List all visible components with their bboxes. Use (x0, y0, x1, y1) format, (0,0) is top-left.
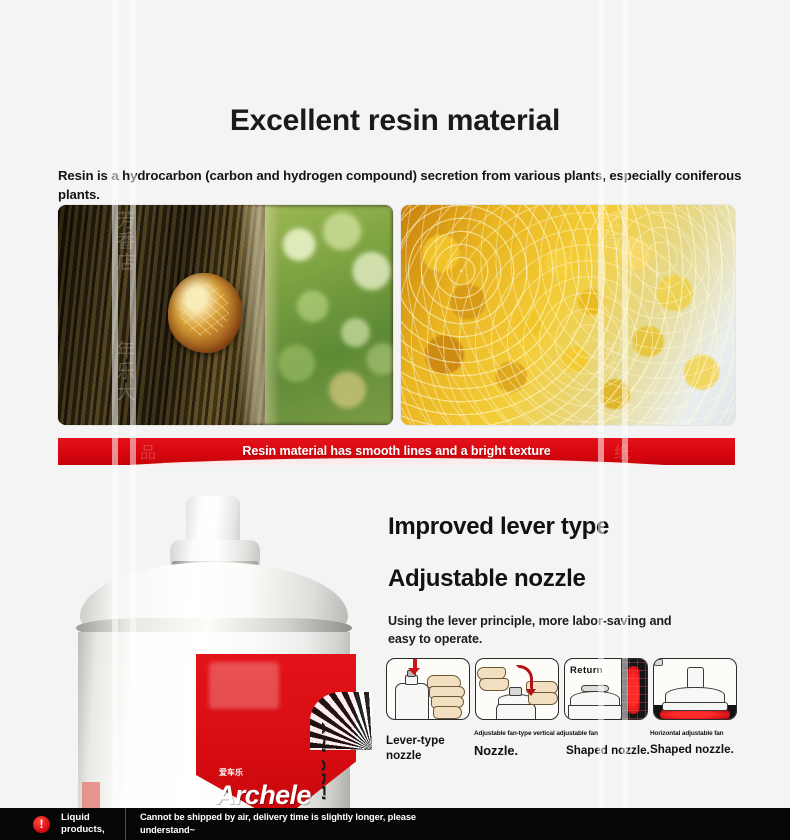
caption-lever-type-nozzle: Lever-type nozzle (386, 733, 472, 763)
nozzle-heading-2: Adjustable nozzle (388, 565, 586, 593)
resin-pellets-photo (401, 205, 736, 425)
caption-shaped-nozzle-2: Shaped nozzle. (650, 743, 734, 756)
curved-arrow-icon (516, 665, 533, 691)
thumbnail-horizontal-spray[interactable] (653, 658, 737, 720)
thumbnail-rotate-nozzle[interactable] (475, 658, 559, 720)
resin-on-tree-bark-photo (58, 205, 393, 425)
page-title: Excellent resin material (0, 0, 790, 136)
resin-feature-banner: 品 纸 Resin material has smooth lines and … (58, 438, 735, 465)
bark-highlight (239, 205, 279, 425)
alert-glyph: ! (33, 816, 50, 833)
can-outline (496, 703, 536, 720)
nozzle-subtext: Using the lever principle, more labor-sa… (388, 612, 700, 649)
can-neck (687, 667, 704, 689)
spray-grid-overlay (621, 659, 647, 719)
caption-adjustable-fan-small: Adjustable fan-type vertical adjustable … (474, 730, 644, 737)
can-brand-cn: 爱车乐 (219, 767, 243, 778)
can-outline (395, 683, 429, 720)
nozzle-notch-icon (654, 659, 663, 666)
finger-icon (433, 706, 462, 719)
can-brand-name: Archele (216, 780, 311, 811)
down-arrow-head-icon (408, 668, 420, 675)
caption-nozzle: Nozzle. (474, 743, 518, 758)
resin-photo-row (58, 205, 735, 425)
bokeh-background (259, 205, 393, 425)
nozzle-heading-1: Improved lever type (388, 513, 609, 541)
nozzle-section: COLORFUL 爱车乐 Archele Features: Improved … (0, 478, 790, 840)
banner-text: Resin material has smooth lines and a br… (58, 438, 735, 465)
shipping-notice-bar: ! Liquid products, Cannot be shipped by … (0, 808, 790, 840)
can-base (662, 702, 728, 711)
caption-shaped-nozzle-1: Shaped nozzle. (566, 744, 650, 757)
thumbnail-vertical-spray[interactable]: Return (564, 658, 648, 720)
return-label: Return (570, 665, 603, 676)
thumbnail-lever-press[interactable] (386, 658, 470, 720)
finger-icon (479, 678, 509, 691)
shipping-notice-message: Cannot be shipped by air, delivery time … (140, 811, 470, 837)
liquid-products-label: Liquid products, (61, 812, 123, 837)
resin-section: Excellent resin material Resin is a hydr… (0, 0, 790, 478)
can-base (568, 705, 622, 720)
pellet-highlights (401, 205, 736, 425)
can-tagline: COLORFUL (322, 716, 368, 800)
can-tagline-text: COLORFUL (322, 720, 328, 766)
caption-horizontal-fan-small: Horizontal adjustable fan (650, 730, 770, 737)
divider (125, 808, 126, 840)
alert-icon: ! (33, 816, 50, 833)
spray-can-photo: COLORFUL 爱车乐 Archele Features: (74, 492, 374, 840)
curved-arrow-head-icon (526, 689, 536, 696)
resin-blob-icon (168, 273, 242, 353)
nozzle-caption-row: Lever-type nozzle Adjustable fan-type ve… (386, 726, 746, 776)
nozzle-thumbnail-row: Return (386, 658, 738, 720)
resin-description: Resin is a hydrocarbon (carbon and hydro… (58, 167, 748, 204)
